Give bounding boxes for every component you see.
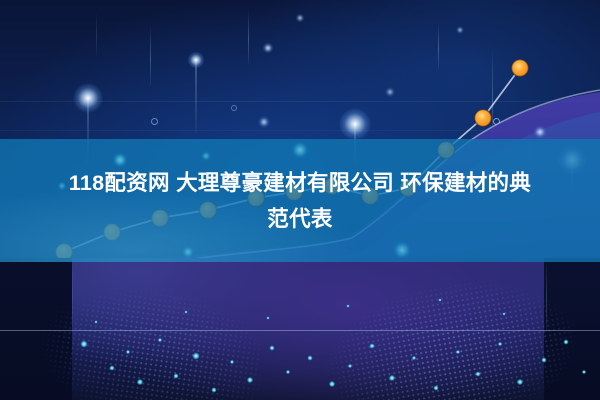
dot-matrix-sphere-left [0,276,260,400]
glow-dot-stem [196,60,197,134]
glow-dot [534,126,547,139]
glow-dot [73,83,103,113]
banner-title-line-2: 范代表 [267,201,332,237]
banner-title: 118配资网 大理尊豪建材有限公司 环保建材的典 范代表 [0,139,600,262]
dot-matrix-sphere-right [300,270,600,400]
glow-dot [339,108,371,140]
glow-dot [188,52,205,69]
lower-horizon-line [0,330,600,331]
glow-dot [258,116,270,128]
banner-title-line-1: 118配资网 大理尊豪建材有限公司 环保建材的典 [69,165,531,201]
glow-dot [456,26,464,34]
banner-image: 118配资网 大理尊豪建材有限公司 环保建材的典 范代表 [0,0,600,400]
glow-dot [263,43,274,54]
lower-vertical-line [72,258,73,330]
lower-vertical-line [546,258,547,332]
glow-dot [385,87,395,97]
glow-dot [296,14,305,23]
